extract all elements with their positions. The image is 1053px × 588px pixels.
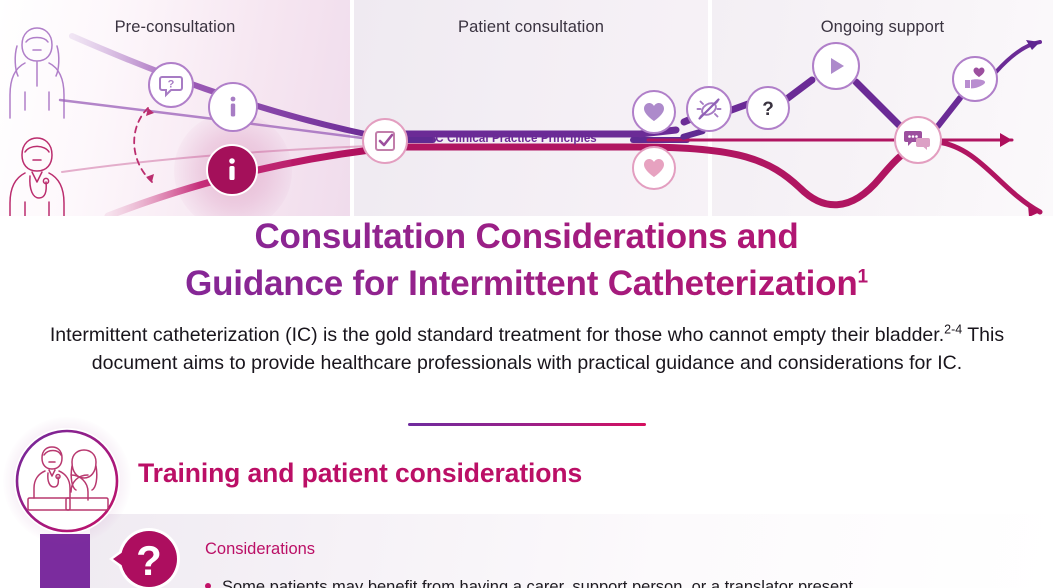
question-speech-bubble-icon[interactable]: ? [148, 62, 194, 108]
infographic-page: Pre-consultation Patient consultation On… [0, 0, 1053, 588]
patient-journey-banner: Pre-consultation Patient consultation On… [0, 0, 1053, 216]
page-title: Consultation Considerations and Guidance… [0, 214, 1053, 308]
question-mark-icon[interactable]: ? [746, 86, 790, 130]
considerations-label: Considerations [205, 540, 315, 559]
subtitle-reference: 2-4 [944, 323, 962, 337]
bullet-dot-icon [205, 583, 211, 588]
clinician-outline-icon [10, 138, 64, 216]
information-icon[interactable] [208, 82, 258, 132]
section-divider [408, 423, 646, 426]
section-icon-wrapper [14, 428, 120, 534]
patient-outline-icon [10, 28, 64, 118]
section-heading: Training and patient considerations [138, 458, 582, 489]
list-item-text: Some patients may benefit from having a … [222, 576, 853, 588]
page-subtitle: Intermittent catheterization (IC) is the… [46, 322, 1008, 377]
journey-path-graphic [0, 0, 1053, 216]
svg-text:?: ? [136, 537, 162, 584]
considerations-bullet-list: Some patients may benefit from having a … [205, 576, 1035, 588]
page-title-line1: Consultation Considerations and [254, 217, 798, 256]
list-item: Some patients may benefit from having a … [205, 576, 1035, 588]
infection-prevention-icon[interactable] [686, 86, 732, 132]
play-video-icon[interactable] [812, 42, 860, 90]
heart-icon[interactable] [632, 90, 676, 134]
question-mark-badge-icon: ? [107, 521, 183, 588]
hand-holding-heart-icon[interactable] [952, 56, 998, 102]
chat-bubbles-icon[interactable] [894, 116, 942, 164]
heart-icon[interactable] [632, 146, 676, 190]
subtitle-part1: Intermittent catheterization (IC) is the… [50, 324, 944, 346]
page-title-line2: Guidance for Intermittent Catheterizatio… [185, 264, 857, 303]
checklist-icon[interactable] [362, 118, 408, 164]
information-highlight-icon[interactable] [206, 144, 258, 196]
consultation-pair-icon [14, 428, 120, 534]
pathway-label: IC Clinical Practice Principles [432, 133, 597, 145]
page-title-reference: 1 [858, 266, 868, 287]
svg-text:?: ? [762, 99, 774, 120]
svg-text:?: ? [168, 79, 175, 91]
